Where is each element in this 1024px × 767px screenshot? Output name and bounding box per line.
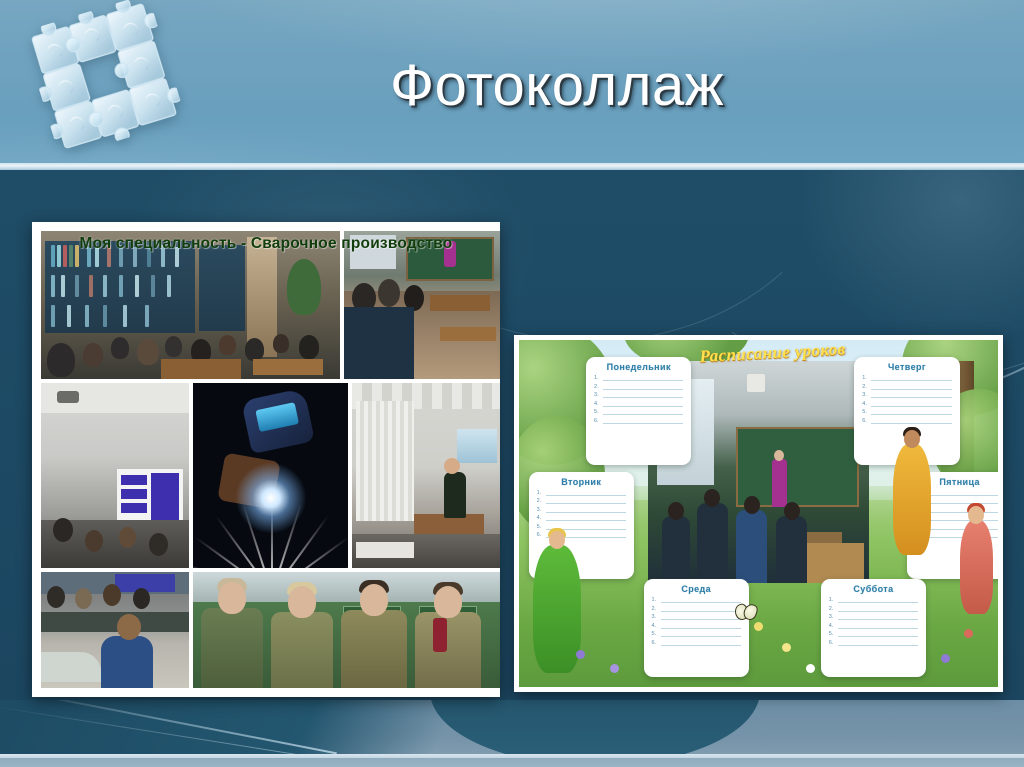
lesson-line[interactable]: 2. <box>594 384 683 390</box>
lesson-rule <box>603 423 683 424</box>
lesson-rule <box>661 645 741 646</box>
flower-decoration <box>941 654 950 663</box>
teacher-figure <box>772 459 787 508</box>
lesson-line[interactable]: 3. <box>594 392 683 398</box>
lesson-number: 3. <box>652 614 658 620</box>
lesson-rule <box>603 414 683 415</box>
lesson-line[interactable]: 2. <box>862 384 951 390</box>
lesson-line[interactable]: 4. <box>652 623 741 629</box>
lesson-rule <box>871 389 951 390</box>
lesson-number: 2. <box>537 498 543 504</box>
lesson-rule <box>546 503 626 504</box>
lesson-rule <box>871 406 951 407</box>
left-collage-caption: Моя специальность - Сварочное производст… <box>41 235 491 253</box>
lesson-rule <box>838 602 918 603</box>
lesson-number: 3. <box>862 392 868 398</box>
lesson-rule <box>546 495 626 496</box>
students-seated-photo <box>41 572 189 688</box>
fairy-head <box>968 506 984 524</box>
lesson-rule <box>871 414 951 415</box>
lesson-line[interactable]: 1. <box>829 597 918 603</box>
left-collage-grid: Моя специальность - Сварочное производст… <box>41 231 491 688</box>
lesson-line[interactable]: 1. <box>862 375 951 381</box>
fairy-head <box>549 531 565 549</box>
day-label: Среда <box>652 584 741 594</box>
lesson-line[interactable]: 2. <box>537 498 626 504</box>
schedule-scene: Расписание уроков Понедельник 1. 2. 3. 4… <box>519 340 998 687</box>
lesson-line[interactable]: 6. <box>829 640 918 646</box>
lesson-line[interactable]: 1. <box>537 490 626 496</box>
lesson-line[interactable]: 3. <box>829 614 918 620</box>
lesson-number: 6. <box>829 640 835 646</box>
day-label: Понедельник <box>594 362 683 372</box>
lesson-number: 2. <box>594 384 600 390</box>
slide-title: Фотоколлаж <box>0 54 1024 118</box>
classroom-lesson-photo <box>344 231 500 379</box>
lesson-number: 1. <box>537 490 543 496</box>
pupil-figure <box>736 510 767 583</box>
lesson-rule <box>661 619 741 620</box>
lesson-number: 2. <box>862 384 868 390</box>
lesson-line[interactable]: 6. <box>652 640 741 646</box>
lesson-line[interactable]: 3. <box>862 392 951 398</box>
lesson-line[interactable]: 5. <box>594 409 683 415</box>
lesson-rule <box>924 520 998 521</box>
lesson-rule <box>838 619 918 620</box>
fairy-head <box>904 430 920 448</box>
lesson-line[interactable]: 4. <box>829 623 918 629</box>
lesson-number: 4. <box>829 623 835 629</box>
lesson-number: 3. <box>829 614 835 620</box>
lesson-line[interactable]: 1. <box>594 375 683 381</box>
lesson-line[interactable]: 2. <box>652 606 741 612</box>
lesson-rule <box>838 611 918 612</box>
lesson-rule <box>603 406 683 407</box>
day-label: Вторник <box>537 477 626 487</box>
schedule-card-monday[interactable]: Понедельник 1. 2. 3. 4. 5. 6. <box>586 357 691 465</box>
lesson-line[interactable]: 5. <box>652 631 741 637</box>
lesson-rule <box>603 380 683 381</box>
lesson-rule <box>546 520 626 521</box>
lesson-number: 4. <box>652 623 658 629</box>
chalkboard <box>736 427 859 507</box>
schedule-card-saturday[interactable]: Суббота 1. 2. 3. 4. 5. 6. <box>821 579 926 676</box>
lesson-number: 5. <box>652 631 658 637</box>
lesson-rule <box>871 397 951 398</box>
fairy-green-icon <box>533 545 581 673</box>
lesson-line[interactable]: 3. <box>537 507 626 513</box>
lesson-rule <box>661 636 741 637</box>
office-room-photo <box>352 383 500 568</box>
lesson-rule <box>838 636 918 637</box>
presentation-slide: Фотоколлаж <box>0 0 1024 767</box>
footer-bottom-strip <box>0 758 1024 767</box>
day-label: Четверг <box>862 362 951 372</box>
lesson-rule <box>546 512 626 513</box>
lesson-number: 6. <box>862 418 868 424</box>
projector-presentation-photo <box>41 383 189 568</box>
butterfly-icon <box>735 604 757 620</box>
lesson-number: 6. <box>652 640 658 646</box>
lesson-number: 2. <box>829 606 835 612</box>
lesson-number: 1. <box>594 375 600 381</box>
lesson-number: 3. <box>537 507 543 513</box>
lesson-line[interactable]: 2. <box>829 606 918 612</box>
left-photo-collage[interactable]: Моя специальность - Сварочное производст… <box>32 222 500 697</box>
lesson-line[interactable]: 5. <box>862 409 951 415</box>
lesson-number: 5. <box>862 409 868 415</box>
lesson-rule <box>871 380 951 381</box>
pupil-figure <box>662 516 691 583</box>
lesson-line[interactable]: 6. <box>594 418 683 424</box>
lesson-rule <box>603 389 683 390</box>
lesson-rule <box>838 628 918 629</box>
lesson-line[interactable]: 5. <box>829 631 918 637</box>
lesson-number: 6. <box>594 418 600 424</box>
fairy-orange-icon <box>893 444 931 555</box>
lesson-rule <box>924 512 998 513</box>
right-schedule-collage[interactable]: Расписание уроков Понедельник 1. 2. 3. 4… <box>514 335 1003 692</box>
lesson-number: 5. <box>537 524 543 530</box>
four-students-group-photo <box>193 572 500 688</box>
pupil-figure <box>776 516 807 583</box>
lesson-rule <box>661 602 741 603</box>
lesson-number: 5. <box>594 409 600 415</box>
lesson-rule <box>871 423 951 424</box>
lesson-number: 4. <box>862 401 868 407</box>
lesson-number: 5. <box>829 631 835 637</box>
pupil-figure <box>697 503 728 583</box>
lesson-rule <box>838 645 918 646</box>
day-label: Суббота <box>829 584 918 594</box>
lesson-line[interactable]: 1. <box>652 597 741 603</box>
lesson-number: 6. <box>537 532 543 538</box>
lesson-rule <box>661 611 741 612</box>
lesson-number: 4. <box>594 401 600 407</box>
lesson-number: 2. <box>652 606 658 612</box>
library-classroom-photo <box>41 231 340 379</box>
lesson-rule <box>603 397 683 398</box>
lesson-line[interactable]: 4. <box>537 515 626 521</box>
lesson-rule <box>924 503 998 504</box>
schedule-card-wednesday[interactable]: Среда 1. 2. 3. 4. 5. 6. <box>644 579 749 676</box>
lesson-rule <box>924 495 998 496</box>
lesson-line[interactable]: 4. <box>594 401 683 407</box>
lesson-number: 1. <box>829 597 835 603</box>
lesson-number: 1. <box>862 375 868 381</box>
lesson-number: 4. <box>537 515 543 521</box>
lesson-line[interactable]: 6. <box>862 418 951 424</box>
lesson-line[interactable]: 3. <box>652 614 741 620</box>
fairy-pink-icon <box>960 520 994 614</box>
lesson-number: 1. <box>652 597 658 603</box>
lesson-line[interactable]: 4. <box>862 401 951 407</box>
lesson-rule <box>661 628 741 629</box>
lesson-number: 3. <box>594 392 600 398</box>
welding-sparks-photo <box>193 383 348 568</box>
